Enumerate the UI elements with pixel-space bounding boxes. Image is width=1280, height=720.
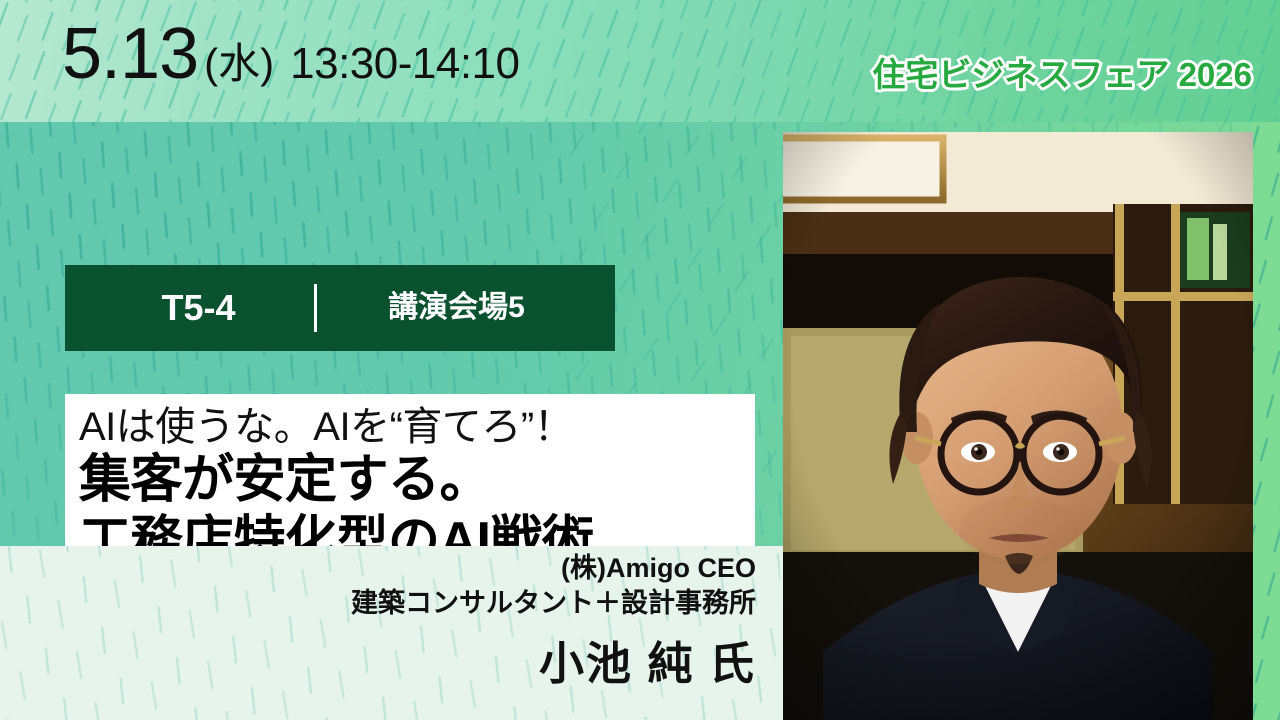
event-title: 住宅ビジネスフェア 2026 [872, 58, 1252, 91]
session-date: 5.13 [62, 18, 198, 90]
session-date-row: 5.13 (水) 13:30-14:10 [62, 18, 520, 90]
session-weekday: (水) [204, 43, 274, 85]
speaker-company: (株)Amigo CEO [0, 552, 756, 586]
header-band: 5.13 (水) 13:30-14:10 住宅ビジネスフェア 2026 [0, 0, 1280, 122]
speaker-name: 小池 純 氏 [0, 637, 756, 691]
speaker-role: 建築コンサルタント＋設計事務所 [0, 586, 756, 621]
session-venue: 講演会場5 [317, 293, 597, 323]
title-text-block: AIは使うな。AIを“育てろ”！ 集客が安定する。 工務店特化型のAI戦術 [79, 404, 755, 546]
title-line-2: 集客が安定する。 [79, 450, 755, 511]
speaker-photo [783, 132, 1253, 720]
title-card: AIは使うな。AIを“育てろ”！ 集客が安定する。 工務店特化型のAI戦術 [65, 394, 755, 546]
title-line-3: 工務店特化型のAI戦術 [79, 511, 755, 546]
right-edge-strip [1253, 122, 1280, 720]
right-strip-hatch [1253, 122, 1280, 720]
session-code: T5-4 [84, 290, 314, 326]
session-time: 13:30-14:10 [290, 42, 519, 86]
session-badge: T5-4 講演会場5 [65, 265, 615, 351]
title-line-1: AIは使うな。AIを“育てろ”！ [79, 404, 755, 450]
speaker-info-block: (株)Amigo CEO 建築コンサルタント＋設計事務所 小池 純 氏 [0, 552, 770, 691]
seminar-session-poster: 5.13 (水) 13:30-14:10 住宅ビジネスフェア 2026 [0, 0, 1280, 720]
